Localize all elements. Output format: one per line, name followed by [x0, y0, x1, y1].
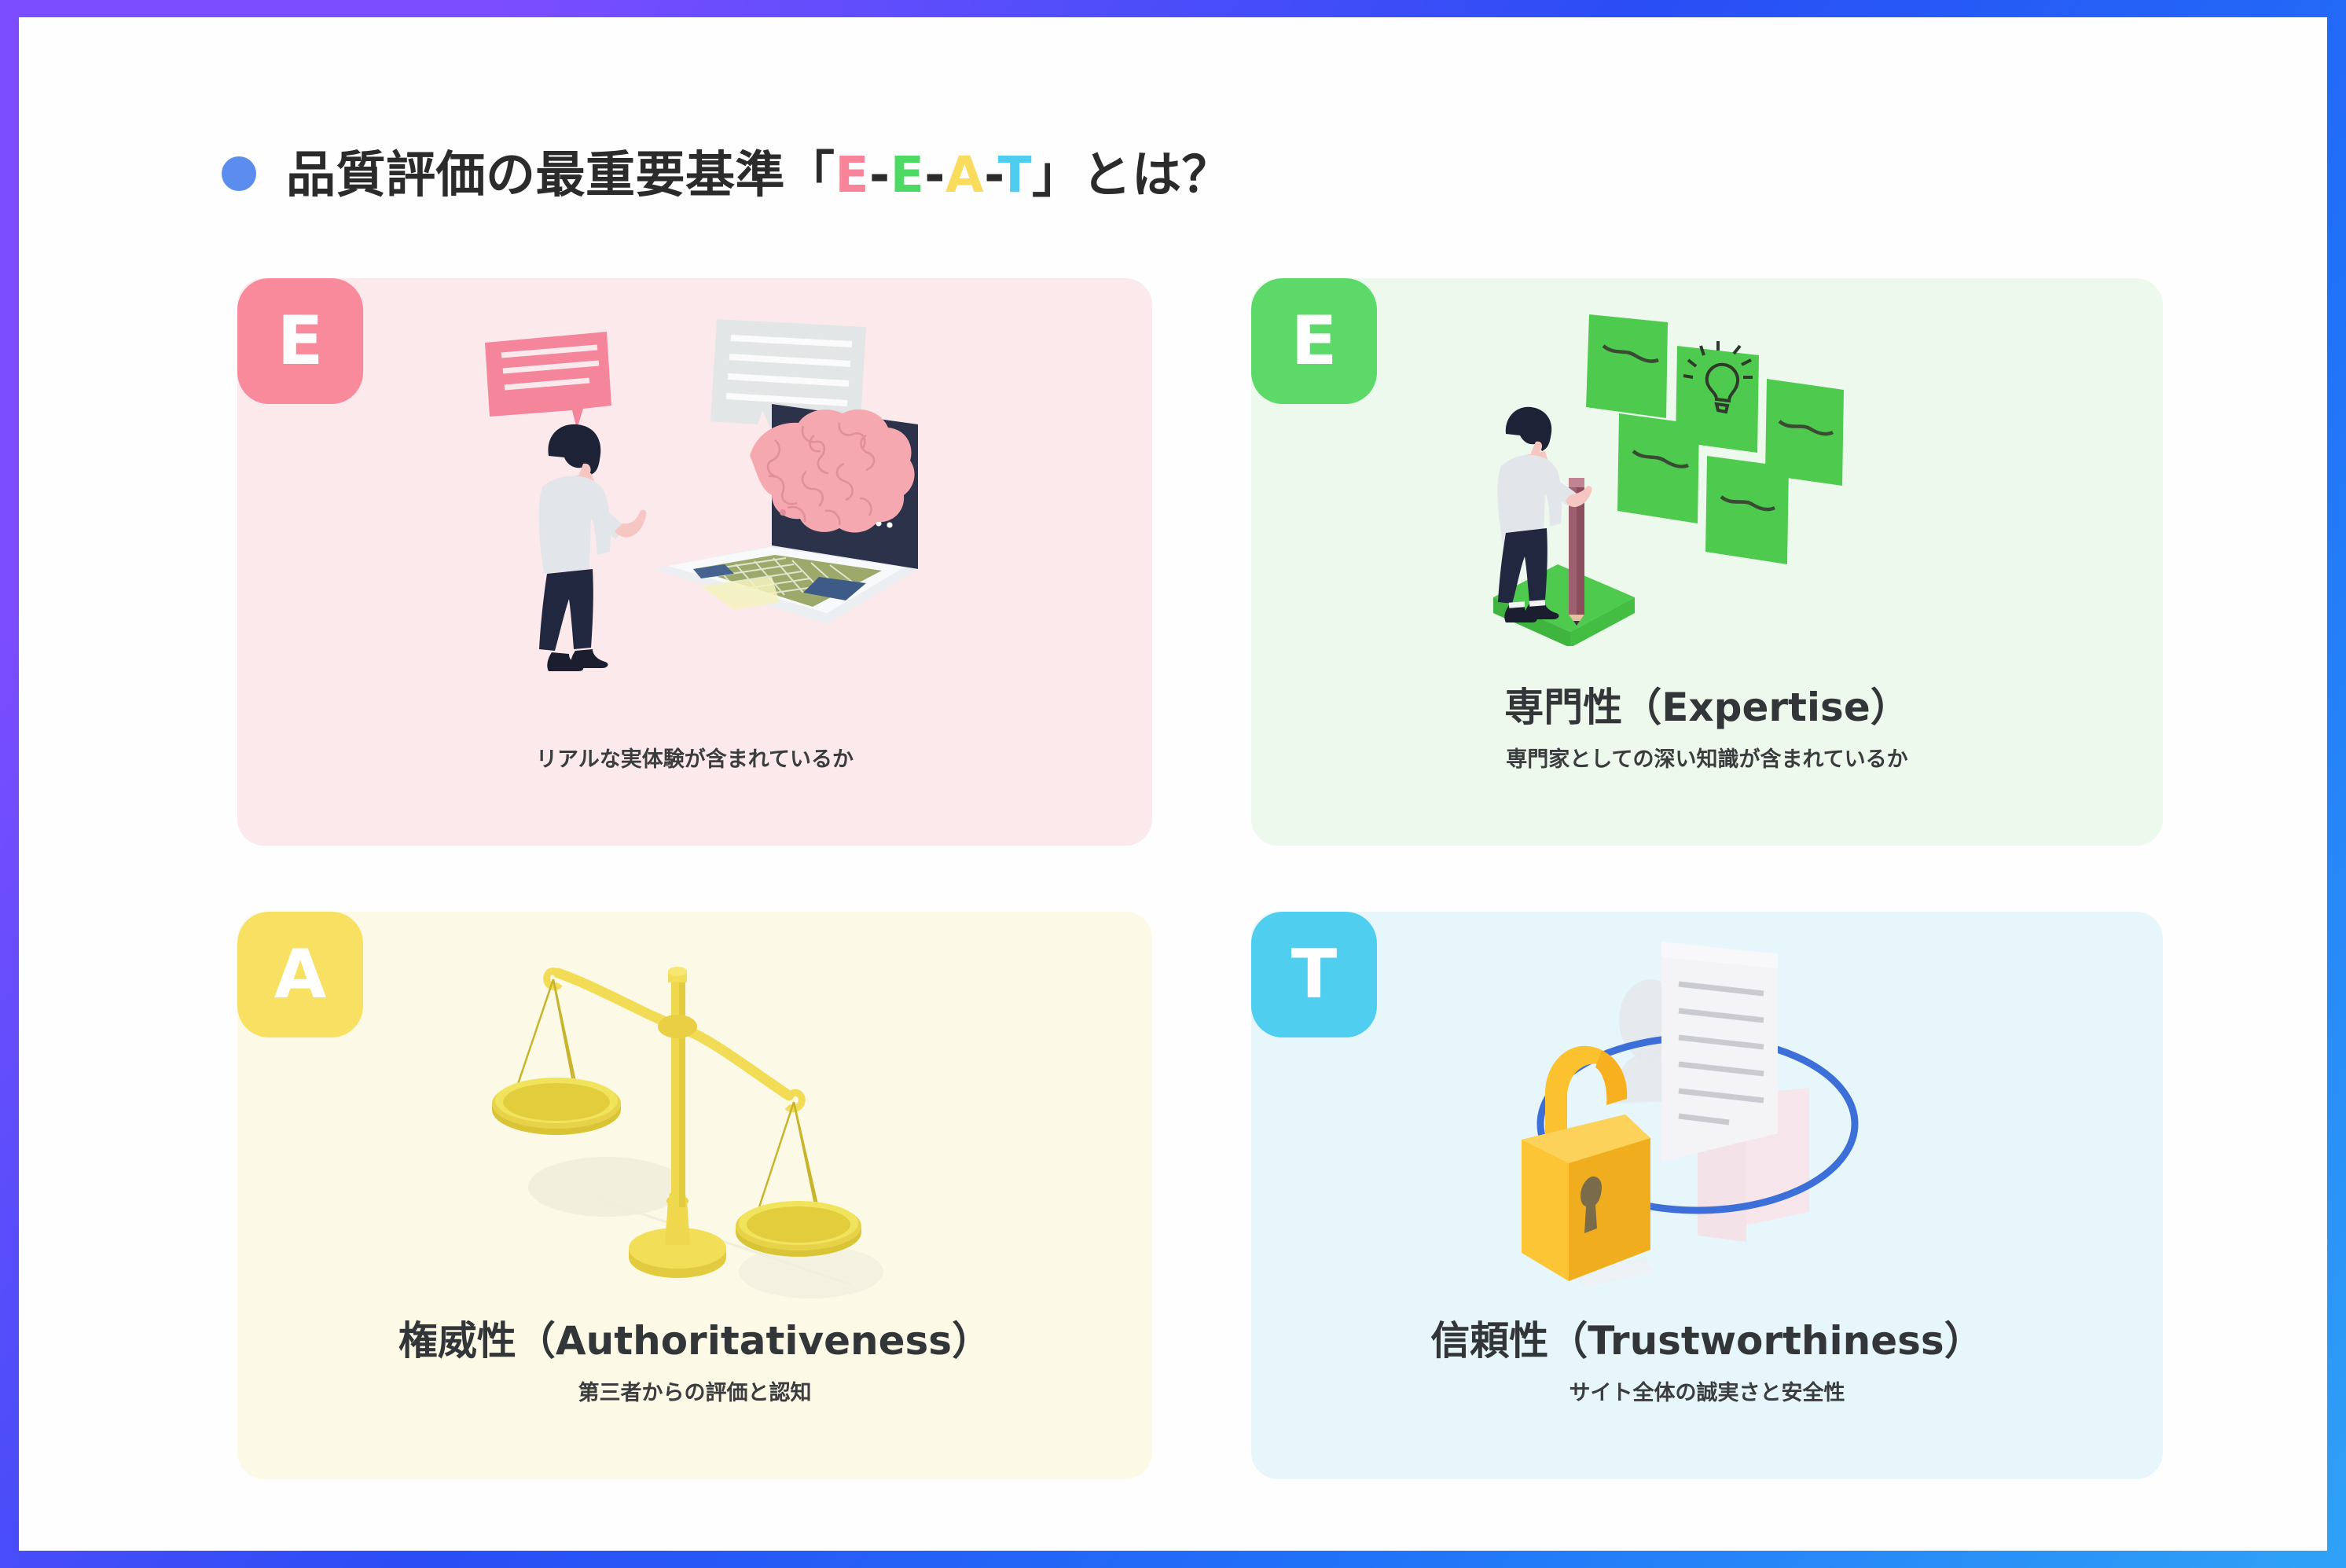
- page-title-text: 品質評価の最重要基準「E-E-A-T」とは？: [286, 135, 1232, 207]
- illustration-padlock-document-orbit: [1487, 927, 1943, 1320]
- badge-letter: E: [277, 307, 324, 375]
- title-letter-t: T: [998, 146, 1032, 204]
- title-sep-1: -: [869, 146, 890, 204]
- pink-speech-bubble: [485, 332, 611, 429]
- scale-pan-left: [492, 979, 621, 1135]
- badge-letter: E: [1291, 307, 1338, 375]
- bullet-dot-icon: [222, 156, 256, 191]
- card-trustworthiness[interactable]: T: [1251, 912, 2163, 1479]
- card-subtitle-expertise: 専門家としての深い知識が含まれているか: [1251, 742, 2163, 773]
- illustration-balance-scale: [481, 934, 921, 1327]
- card-subtitle-trustworthiness: サイト全体の誠実さと安全性: [1251, 1375, 2163, 1406]
- title-sep-3: -: [984, 146, 997, 204]
- card-experience[interactable]: E: [237, 278, 1152, 846]
- badge-e-expertise: E: [1251, 278, 1377, 404]
- card-authoritativeness[interactable]: A: [237, 912, 1152, 1479]
- document-icon: [1661, 942, 1778, 1162]
- page-title: 品質評価の最重要基準「E-E-A-T」とは？: [222, 135, 1232, 207]
- card-title-expertise: 専門性（Expertise）: [1251, 676, 2163, 733]
- scale-pan-right: [736, 1102, 861, 1257]
- slide-canvas: 品質評価の最重要基準「E-E-A-T」とは？ E: [19, 17, 2327, 1551]
- badge-e-experience: E: [237, 278, 363, 404]
- badge-letter: T: [1291, 941, 1338, 1008]
- person-figure: [539, 424, 647, 671]
- illustration-person-laptop-brain: [457, 310, 960, 679]
- title-letter-e1: E: [835, 146, 870, 204]
- card-subtitle-authoritativeness: 第三者からの評価と認知: [237, 1375, 1152, 1406]
- shadow-left: [528, 1157, 685, 1217]
- title-letter-a: A: [945, 146, 984, 204]
- title-prefix: 品質評価の最重要基準「: [286, 146, 835, 204]
- card-expertise[interactable]: E: [1251, 278, 2163, 846]
- title-suffix: 」とは？: [1032, 146, 1232, 204]
- badge-t-trustworthiness: T: [1251, 912, 1377, 1037]
- badge-a-authoritativeness: A: [237, 912, 363, 1037]
- gradient-frame: 品質評価の最重要基準「E-E-A-T」とは？ E: [0, 0, 2346, 1568]
- badge-letter: A: [274, 941, 327, 1008]
- card-subtitle-experience: リアルな実体験が含まれているか: [237, 742, 1152, 773]
- sticky-note-group: [1586, 314, 1844, 564]
- title-sep-2: -: [924, 146, 945, 204]
- illustration-person-pencil-sticky-notes: [1471, 300, 1959, 646]
- card-title-authoritativeness: 権威性（Authoritativeness）: [237, 1309, 1152, 1366]
- title-letter-e2: E: [890, 146, 925, 204]
- card-title-trustworthiness: 信頼性（Trustworthiness）: [1251, 1309, 2163, 1366]
